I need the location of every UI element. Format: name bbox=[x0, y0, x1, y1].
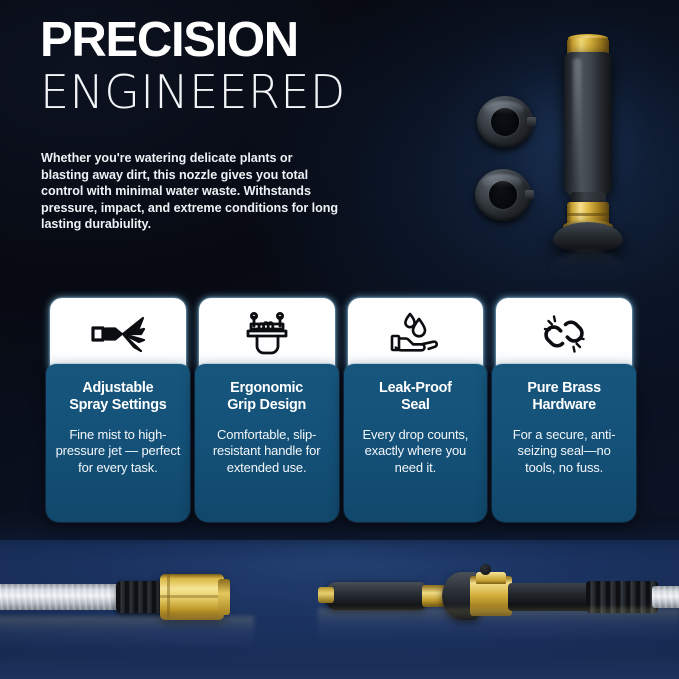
nozzle-brass-tip bbox=[318, 587, 334, 603]
card-icon-panel bbox=[50, 298, 186, 370]
headline-block: PRECISION ENGINEERED bbox=[40, 16, 440, 118]
card-title: AdjustableSpray Settings bbox=[69, 380, 166, 414]
shutoff-valve-lever bbox=[476, 572, 506, 584]
card-icon-panel bbox=[496, 298, 632, 370]
hand-water-drop-icon bbox=[386, 309, 444, 359]
brass-connector bbox=[160, 574, 224, 620]
card-text-panel: Leak-ProofSeal Every drop counts, exactl… bbox=[344, 364, 488, 522]
chain-link-icon bbox=[535, 309, 593, 359]
headline-line-2: ENGINEERED bbox=[40, 68, 440, 118]
card-text-panel: ErgonomicGrip Design Comfortable, slip-r… bbox=[195, 364, 339, 522]
braided-hose-section bbox=[652, 586, 679, 608]
card-description: Comfortable, slip-resistant handle for e… bbox=[204, 427, 330, 477]
feature-card-pure-brass[interactable]: Pure BrassHardware For a secure, anti-se… bbox=[492, 298, 636, 522]
black-nozzle-grip bbox=[326, 582, 426, 610]
hose-strain-relief bbox=[116, 581, 166, 613]
braided-hose-with-brass-connector-image bbox=[0, 568, 254, 630]
card-title: ErgonomicGrip Design bbox=[227, 380, 306, 414]
hose-strain-relief bbox=[586, 581, 658, 613]
braided-hose-section bbox=[0, 584, 122, 610]
shutoff-valve-knob bbox=[480, 564, 491, 575]
feature-card-ergonomic-grip[interactable]: ErgonomicGrip Design Comfortable, slip-r… bbox=[195, 298, 339, 522]
feature-card-leak-proof-seal[interactable]: Leak-ProofSeal Every drop counts, exactl… bbox=[344, 298, 488, 522]
hero-paragraph: Whether you're watering delicate plants … bbox=[41, 150, 341, 233]
feature-card-row: AdjustableSpray Settings Fine mist to hi… bbox=[46, 298, 636, 522]
headline-line-1: PRECISION bbox=[40, 16, 440, 65]
black-hose-section bbox=[508, 583, 594, 611]
spray-nozzle-icon bbox=[89, 309, 147, 359]
hose-with-nozzle-and-shutoff-valve-image bbox=[318, 560, 679, 632]
rubber-washer-upper-icon bbox=[477, 96, 533, 148]
card-icon-panel bbox=[199, 298, 335, 370]
card-description: Fine mist to high-pressure jet — perfect… bbox=[55, 427, 181, 477]
card-title: Pure BrassHardware bbox=[527, 380, 601, 414]
product-hero-image bbox=[455, 14, 679, 269]
brass-connector-cap bbox=[218, 579, 230, 615]
card-title: Leak-ProofSeal bbox=[379, 380, 452, 414]
infographic-canvas: PRECISION ENGINEERED Whether you're wate… bbox=[0, 0, 679, 679]
hand-grip-icon bbox=[238, 309, 296, 359]
feature-card-adjustable-spray[interactable]: AdjustableSpray Settings Fine mist to hi… bbox=[46, 298, 190, 522]
card-description: For a secure, anti-seizing seal—no tools… bbox=[501, 427, 627, 477]
card-text-panel: Pure BrassHardware For a secure, anti-se… bbox=[492, 364, 636, 522]
card-icon-panel bbox=[348, 298, 484, 370]
rubber-washer-lower-icon bbox=[475, 169, 531, 221]
brass-hose-nozzle-image bbox=[550, 30, 630, 252]
card-text-panel: AdjustableSpray Settings Fine mist to hi… bbox=[46, 364, 190, 522]
card-description: Every drop counts, exactly where you nee… bbox=[353, 427, 479, 477]
